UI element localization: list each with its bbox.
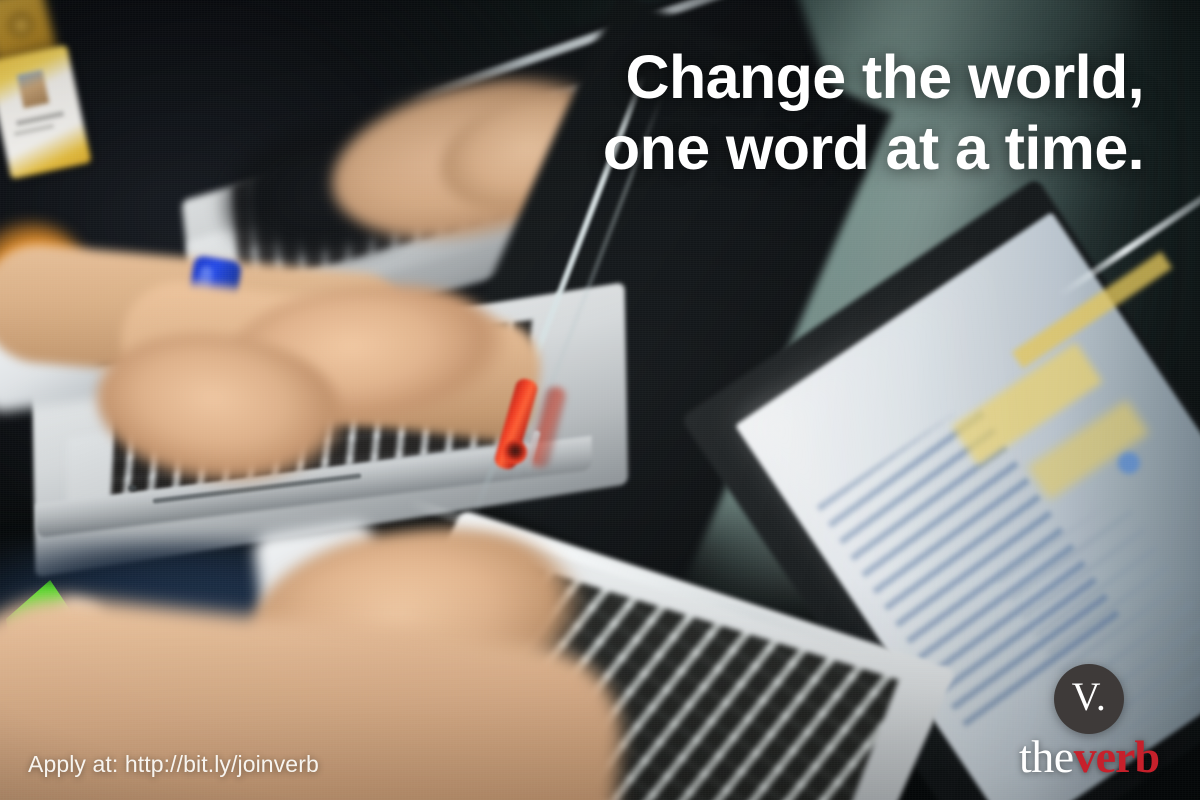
photo-middle-laptop-indicator [128,485,137,491]
apply-link[interactable]: Apply at: http://bit.ly/joinverb [28,751,319,778]
logo-word-verb: verb [1074,731,1159,782]
headline: Change the world, one word at a time. [603,42,1144,184]
logo[interactable]: V. theverb [994,664,1184,782]
headline-line-1: Change the world, [603,42,1144,113]
poster-canvas: Change the world, one word at a time. Ap… [0,0,1200,800]
logo-wordmark: theverb [994,734,1184,780]
photo-badge-clip [6,10,36,40]
headline-line-2: one word at a time. [603,113,1144,184]
logo-word-the: the [1019,731,1074,782]
logo-mark-letter: V. [1072,677,1107,717]
logo-circle-mark: V. [1054,664,1124,734]
